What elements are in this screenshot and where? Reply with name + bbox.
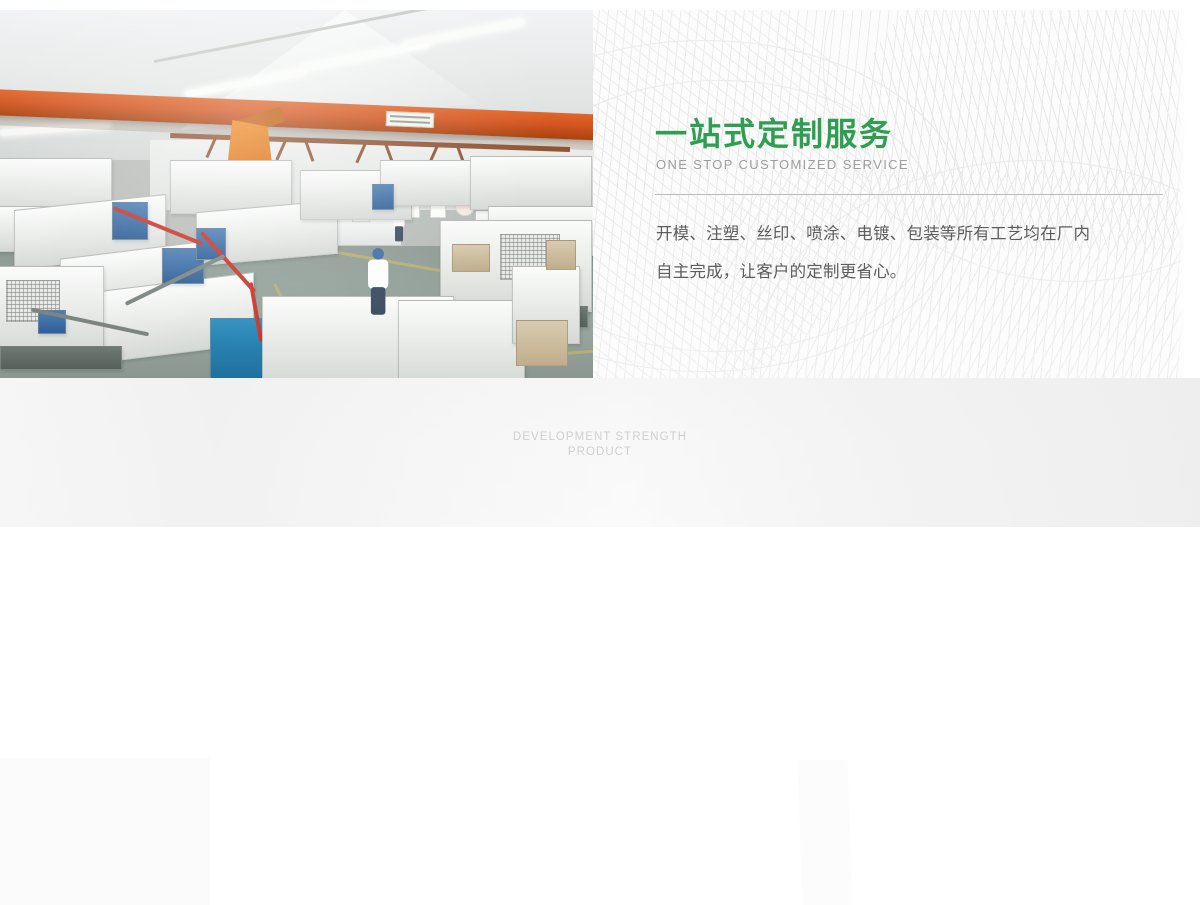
footer-caption-line-1: DEVELOPMENT STRENGTH (513, 431, 687, 443)
ghost-shape (0, 758, 210, 905)
panel-title-en: ONE STOP CUSTOMIZED SERVICE (656, 157, 909, 172)
carton-box (546, 240, 576, 270)
worker (368, 248, 388, 315)
panel-content: 一站式定制服务 ONE STOP CUSTOMIZED SERVICE 开模、注… (593, 10, 1185, 378)
carton-box (452, 244, 490, 272)
partition-panel (398, 300, 525, 378)
banner-section: DEVELOPMENT STRENGTH PRODUCT (0, 0, 1200, 527)
panel-title-cn: 一站式定制服务 (655, 109, 893, 155)
panel-body-line-2: 自主完成，让客户的定制更省心。 (656, 253, 1156, 291)
ghost-shape (876, 833, 1085, 873)
carton-box (516, 320, 568, 366)
molding-machine (470, 156, 592, 210)
footer-caption: DEVELOPMENT STRENGTH PRODUCT (0, 430, 1200, 460)
machine-base (0, 346, 122, 370)
panel-body-line-1: 开模、注塑、丝印、喷涂、电镀、包装等所有工艺均在厂内 (656, 215, 1156, 253)
panel-divider (655, 194, 1163, 195)
control-box (372, 184, 394, 210)
panel-body-text: 开模、注塑、丝印、喷涂、电镀、包装等所有工艺均在厂内 自主完成，让客户的定制更省… (656, 215, 1156, 291)
ghost-shape (797, 760, 852, 905)
ghost-shape (556, 758, 634, 905)
customized-service-panel: 一站式定制服务 ONE STOP CUSTOMIZED SERVICE 开模、注… (593, 10, 1185, 378)
ghost-shape (630, 776, 750, 905)
crane-sign (386, 111, 435, 128)
footer-caption-line-2: PRODUCT (0, 445, 1200, 460)
factory-floor-photo (0, 10, 593, 378)
